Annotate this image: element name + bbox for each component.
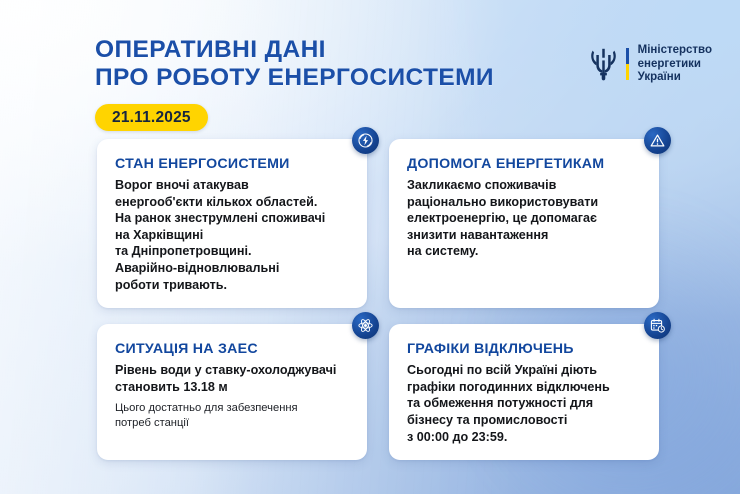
card-body: Сьогодні по всій Україні діють графіки п… [407, 362, 641, 445]
page-title: ОПЕРАТИВНІ ДАНІ ПРО РОБОТУ ЕНЕРГОСИСТЕМИ [95, 36, 494, 92]
card-heading: СИТУАЦІЯ НА ЗАЕС [115, 341, 349, 358]
card-grid: СТАН ЕНЕРГОСИСТЕМИ Ворог вночі атакував … [97, 139, 659, 460]
card-stan-enerhosystemy: СТАН ЕНЕРГОСИСТЕМИ Ворог вночі атакував … [97, 139, 367, 308]
card-heading: ГРАФІКИ ВІДКЛЮЧЕНЬ [407, 341, 641, 358]
energy-power-icon [352, 127, 379, 154]
ministry-name-line-3: України [638, 71, 712, 85]
page-title-line-1: ОПЕРАТИВНІ ДАНІ [95, 36, 494, 64]
page-title-line-2: ПРО РОБОТУ ЕНЕРГОСИСТЕМИ [95, 64, 494, 92]
card-row-1: СТАН ЕНЕРГОСИСТЕМИ Ворог вночі атакував … [97, 139, 659, 308]
tryzub-icon [590, 47, 617, 81]
card-heading: ДОПОМОГА ЕНЕРГЕТИКАМ [407, 156, 641, 173]
logo-divider-bar [626, 48, 629, 80]
header: ОПЕРАТИВНІ ДАНІ ПРО РОБОТУ ЕНЕРГОСИСТЕМИ… [0, 0, 740, 132]
ministry-name-line-1: Міністерство [638, 44, 712, 58]
ministry-name: Міністерство енергетики України [638, 44, 712, 85]
card-body: Ворог вночі атакував енергооб'єкти кільк… [115, 177, 349, 293]
date-badge: 21.11.2025 [95, 104, 208, 131]
poster-canvas: ОПЕРАТИВНІ ДАНІ ПРО РОБОТУ ЕНЕРГОСИСТЕМИ… [0, 0, 740, 494]
atom-icon [352, 312, 379, 339]
warning-triangle-icon [644, 127, 671, 154]
ministry-name-line-2: енергетики [638, 58, 712, 72]
card-body: Закликаємо споживачів раціонально викори… [407, 177, 641, 260]
calendar-clock-icon [644, 312, 671, 339]
card-heading: СТАН ЕНЕРГОСИСТЕМИ [115, 156, 349, 173]
card-sytuatsiia-na-zaes: СИТУАЦІЯ НА ЗАЕС Рівень води у ставку-ох… [97, 324, 367, 460]
ministry-logo: Міністерство енергетики України [590, 44, 712, 85]
card-hrafiky-vidkliuchen: ГРАФІКИ ВІДКЛЮЧЕНЬ Сьогодні по всій Укра… [389, 324, 659, 460]
card-subbody: Цього достатньо для забезпечення потреб … [115, 401, 349, 431]
card-row-2: СИТУАЦІЯ НА ЗАЕС Рівень води у ставку-ох… [97, 324, 659, 460]
card-body: Рівень води у ставку-охолоджувачі станов… [115, 362, 349, 395]
card-dopomoha-enerhetykam: ДОПОМОГА ЕНЕРГЕТИКАМ Закликаємо споживач… [389, 139, 659, 308]
